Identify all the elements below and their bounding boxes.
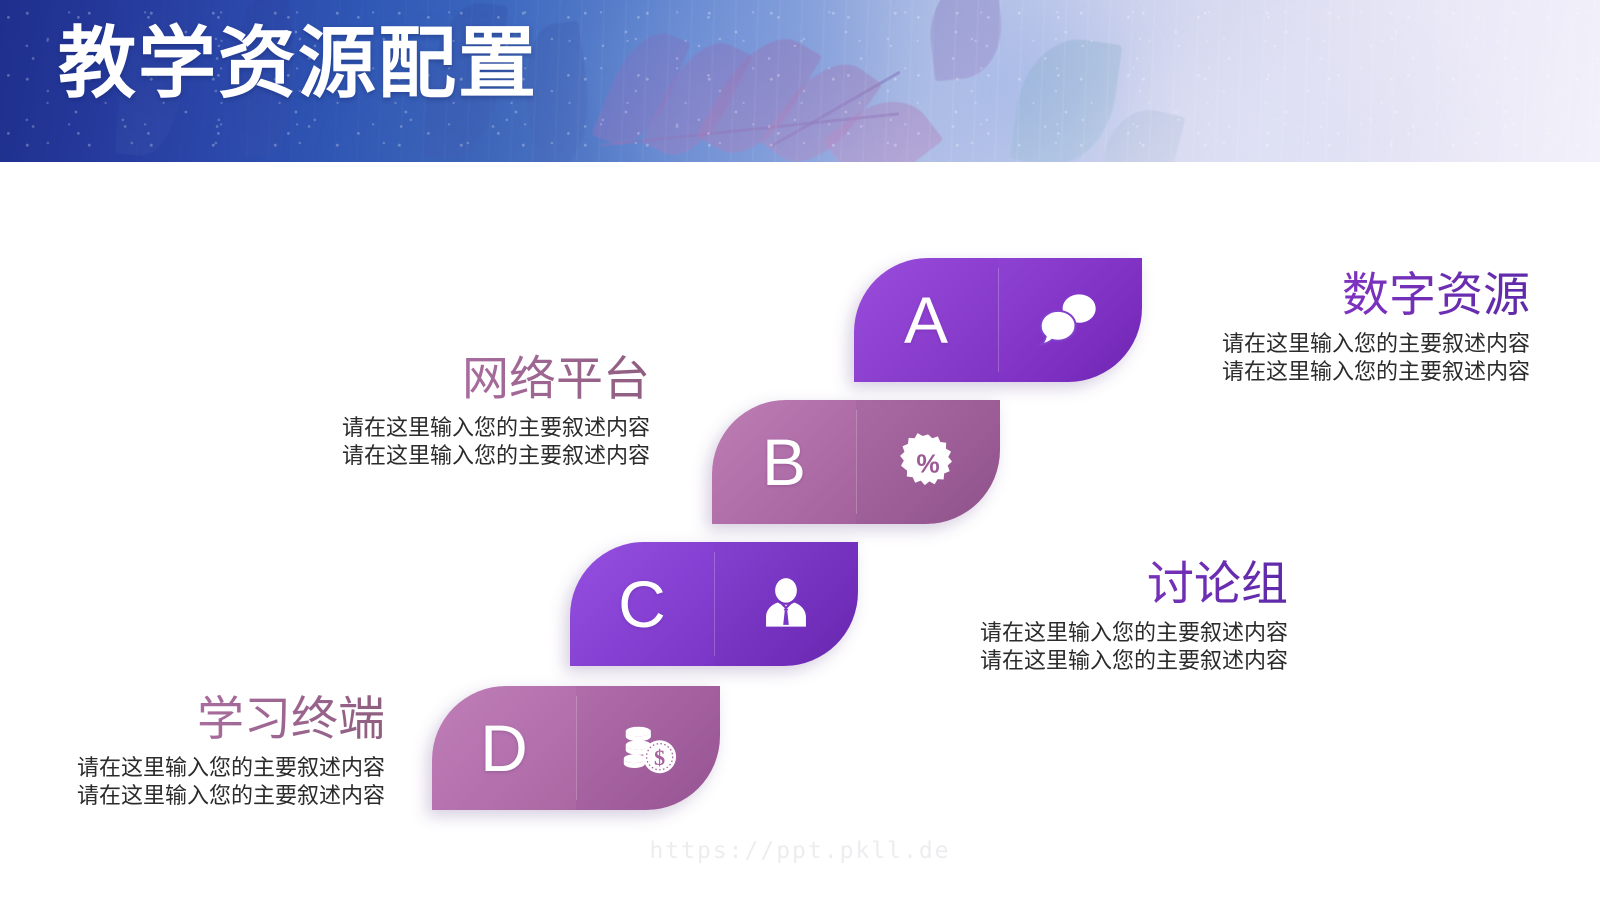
step-card-c-letter-half: C: [570, 542, 714, 666]
step-title-c: 讨论组: [828, 557, 1288, 611]
step-label-d: 学习终端 请在这里输入您的主要叙述内容 请在这里输入您的主要叙述内容: [0, 692, 385, 810]
step-body-b-line-1: 请在这里输入您的主要叙述内容: [190, 414, 650, 442]
title-banner: 教学资源配置: [0, 0, 1600, 162]
step-title-a: 数字资源: [1070, 268, 1530, 322]
step-label-c: 讨论组 请在这里输入您的主要叙述内容 请在这里输入您的主要叙述内容: [828, 557, 1288, 675]
coins-dollar-icon: $: [617, 717, 679, 779]
step-body-a-line-1: 请在这里输入您的主要叙述内容: [1070, 330, 1530, 358]
card-divider: [576, 696, 577, 800]
percent-badge-icon: %: [898, 432, 958, 492]
step-label-a: 数字资源 请在这里输入您的主要叙述内容 请在这里输入您的主要叙述内容: [1070, 268, 1530, 386]
step-body-d-line-2: 请在这里输入您的主要叙述内容: [0, 782, 385, 810]
footer-watermark: https://ppt.pkll.de: [0, 838, 1600, 864]
slide-canvas: 教学资源配置 D $: [0, 0, 1600, 900]
step-title-d: 学习终端: [0, 692, 385, 746]
card-divider: [856, 410, 857, 514]
step-body-a-line-2: 请在这里输入您的主要叙述内容: [1070, 358, 1530, 386]
step-letter-b: B: [762, 429, 806, 495]
step-body-c-line-2: 请在这里输入您的主要叙述内容: [828, 647, 1288, 675]
card-divider: [998, 268, 999, 372]
step-card-c[interactable]: C: [570, 542, 858, 666]
step-card-d[interactable]: D $: [432, 686, 720, 810]
step-card-b[interactable]: B %: [712, 400, 1000, 524]
step-card-d-icon-half: $: [576, 686, 720, 810]
step-card-a-letter-half: A: [854, 258, 998, 382]
page-title: 教学资源配置: [58, 20, 538, 107]
step-body-d-line-1: 请在这里输入您的主要叙述内容: [0, 754, 385, 782]
step-letter-d: D: [480, 715, 528, 781]
svg-text:%: %: [916, 448, 939, 478]
step-body-c-line-1: 请在这里输入您的主要叙述内容: [828, 619, 1288, 647]
step-card-b-icon-half: %: [856, 400, 1000, 524]
step-label-b: 网络平台 请在这里输入您的主要叙述内容 请在这里输入您的主要叙述内容: [190, 352, 650, 470]
step-letter-c: C: [618, 571, 666, 637]
step-letter-a: A: [904, 287, 948, 353]
step-title-b: 网络平台: [190, 352, 650, 406]
step-body-b-line-2: 请在这里输入您的主要叙述内容: [190, 442, 650, 470]
step-card-b-letter-half: B: [712, 400, 856, 524]
svg-text:$: $: [654, 745, 665, 770]
card-divider: [714, 552, 715, 656]
step-card-d-letter-half: D: [432, 686, 576, 810]
businessman-icon: [757, 575, 815, 633]
